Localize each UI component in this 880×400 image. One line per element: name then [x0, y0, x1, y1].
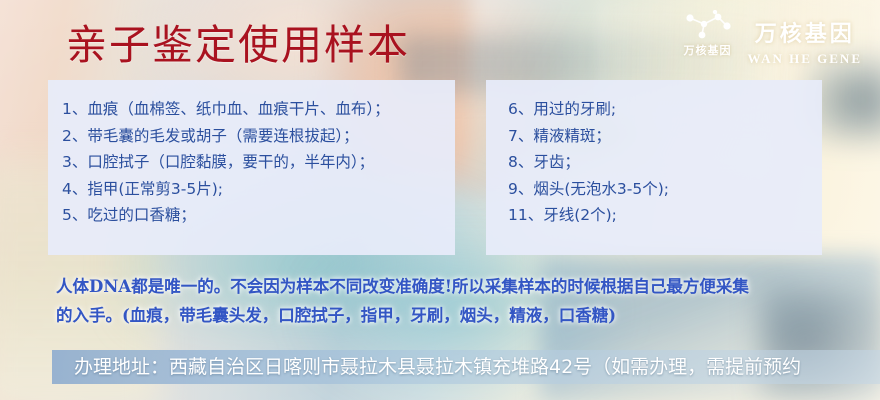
brand-logo: 万核基因 万核基因 WAN HE GENE	[682, 10, 862, 67]
sample-list-right: 6、用过的牙刷; 7、精液精斑； 8、牙齿； 9、烟头(无泡水3-5个); 11…	[486, 80, 822, 229]
list-item: 1、血痕（血棉签、纸巾血、血痕干片、血布）；	[62, 96, 455, 123]
list-item: 6、用过的牙刷;	[508, 96, 822, 123]
list-item: 4、指甲(正常剪3-5片);	[62, 176, 455, 203]
list-item: 2、带毛囊的毛发或胡子（需要连根拔起）；	[62, 123, 455, 150]
sample-list-left: 1、血痕（血棉签、纸巾血、血痕干片、血布）； 2、带毛囊的毛发或胡子（需要连根拔…	[48, 80, 455, 229]
note-line-1: 人体DNA都是唯一的。不会因为样本不同改变准确度!所以采集样本的时候根据自己最方…	[56, 272, 868, 301]
logo-mark: 万核基因	[682, 10, 734, 58]
list-item: 8、牙齿；	[508, 149, 822, 176]
sample-list-panel-right: 6、用过的牙刷; 7、精液精斑； 8、牙齿； 9、烟头(无泡水3-5个); 11…	[486, 80, 822, 255]
list-item: 11、牙线(2个);	[508, 202, 822, 229]
logo-mark-label: 万核基因	[684, 42, 732, 58]
page-title: 亲子鉴定使用样本	[66, 22, 410, 68]
address-bar: 办理地址：西藏自治区日喀则市聂拉木县聂拉木镇充堆路42号（如需办理，需提前预约	[52, 350, 880, 384]
note-line-2: 的入手。(血痕，带毛囊头发，口腔拭子，指甲，牙刷，烟头，精液，口香糖)	[56, 301, 868, 330]
brand-name-en: WAN HE GENE	[748, 51, 862, 67]
list-item: 5、吃过的口香糖；	[62, 202, 455, 229]
list-item: 9、烟头(无泡水3-5个);	[508, 176, 822, 203]
molecule-icon	[682, 10, 734, 40]
brand-name-cn: 万核基因	[755, 16, 855, 48]
poster-canvas: 亲子鉴定使用样本	[0, 0, 880, 400]
note-paragraph: 人体DNA都是唯一的。不会因为样本不同改变准确度!所以采集样本的时候根据自己最方…	[56, 272, 868, 330]
list-item: 3、口腔拭子（口腔黏膜，要干的，半年内）；	[62, 149, 455, 176]
sample-list-panel-left: 1、血痕（血棉签、纸巾血、血痕干片、血布）； 2、带毛囊的毛发或胡子（需要连根拔…	[48, 80, 455, 255]
logo-wordmark: 万核基因 WAN HE GENE	[748, 10, 862, 67]
list-item: 7、精液精斑；	[508, 123, 822, 150]
address-text: 办理地址：西藏自治区日喀则市聂拉木县聂拉木镇充堆路42号（如需办理，需提前预约	[74, 353, 801, 381]
